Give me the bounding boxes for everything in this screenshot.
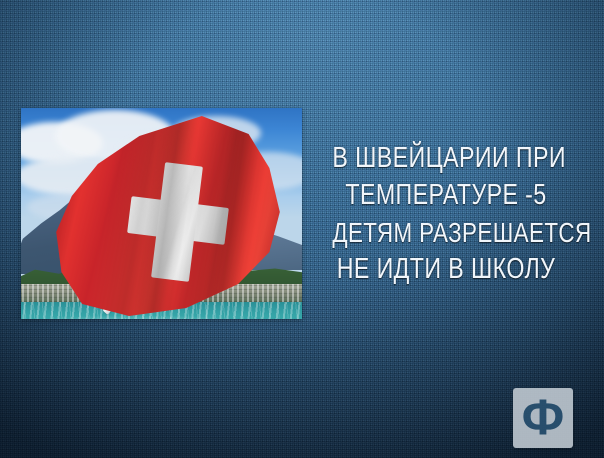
caption-line-4: НЕ ИДТИ В ШКОЛУ — [332, 251, 559, 288]
logo-watermark[interactable]: Ф — [513, 388, 573, 448]
slide-canvas: В ШВЕЙЦАРИИ ПРИ ТЕМПЕРАТУРЕ -5 ДЕТЯМ РАЗ… — [0, 0, 604, 458]
caption-block: В ШВЕЙЦАРИИ ПРИ ТЕМПЕРАТУРЕ -5 ДЕТЯМ РАЗ… — [304, 140, 588, 288]
caption-line-3: ДЕТЯМ РАЗРЕШАЕТСЯ — [332, 214, 559, 251]
swiss-flag-photo — [21, 108, 302, 319]
caption-line-1: В ШВЕЙЦАРИИ ПРИ — [332, 140, 559, 177]
caption-line-2: ТЕМПЕРАТУРЕ -5 — [332, 177, 559, 214]
swiss-flag — [51, 116, 302, 316]
logo-f-icon: Ф — [513, 388, 573, 448]
flag-shading — [51, 116, 302, 316]
